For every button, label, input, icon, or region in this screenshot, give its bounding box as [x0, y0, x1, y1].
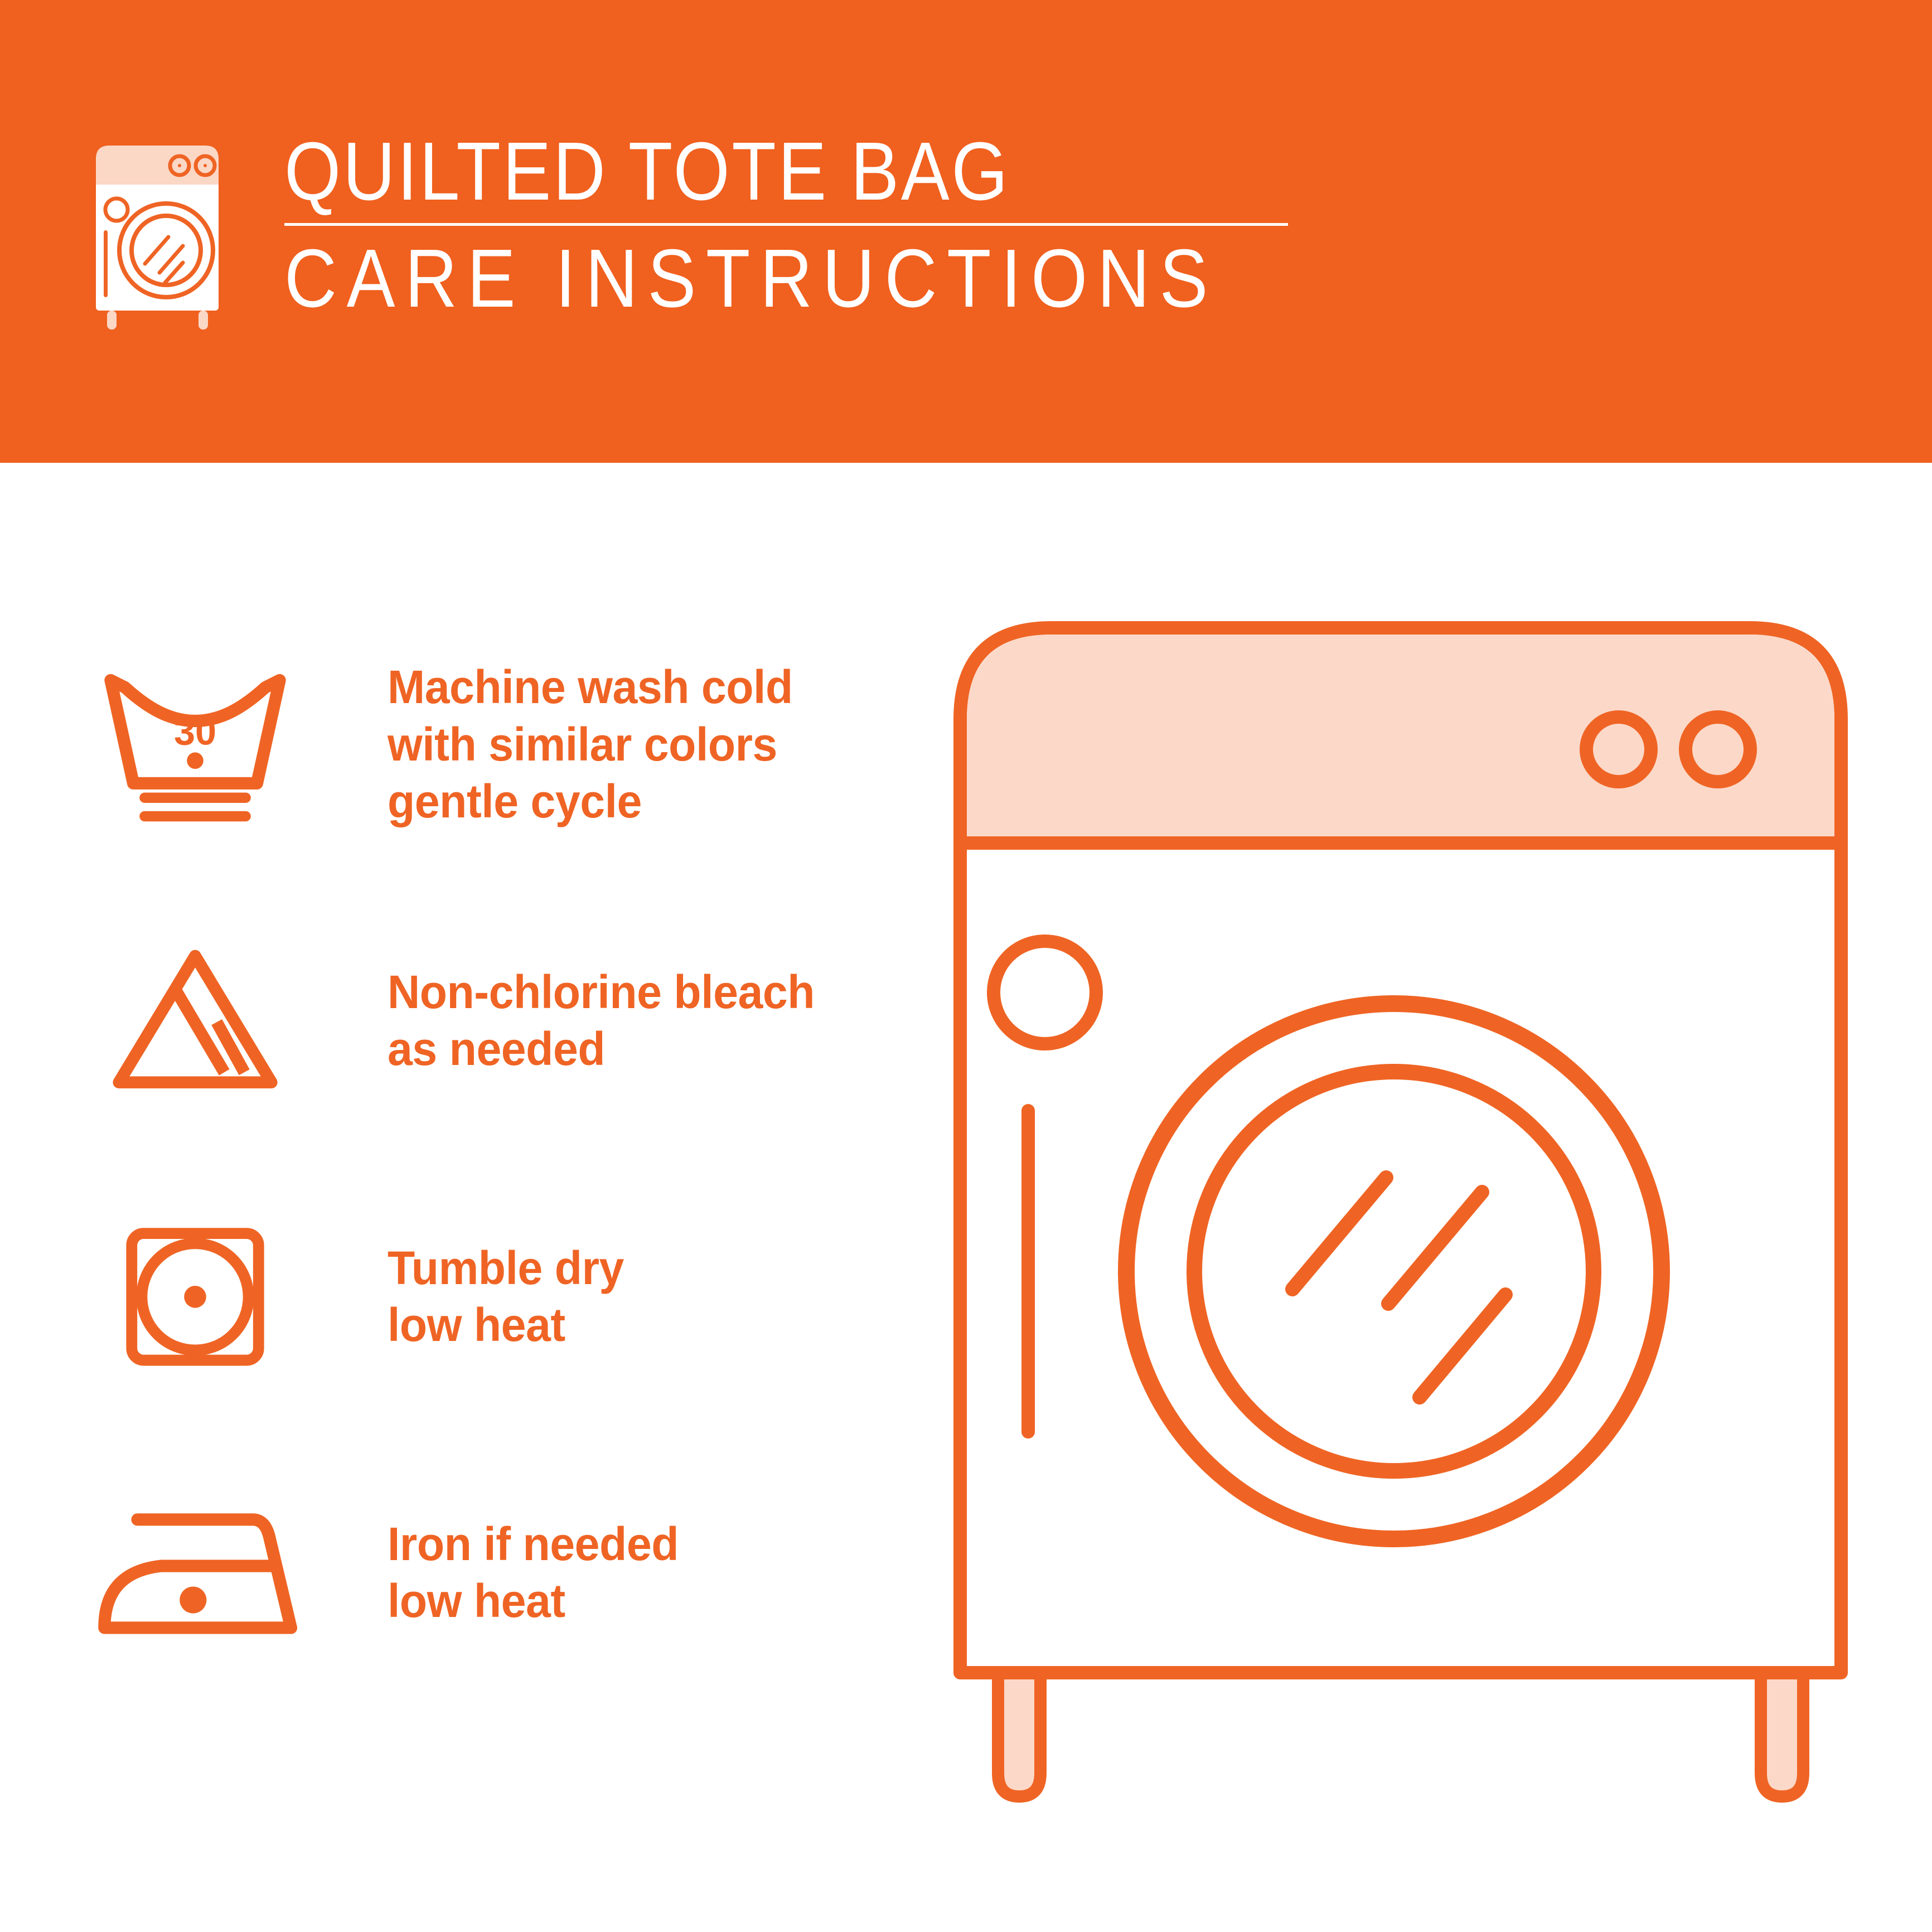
instruction-line: Iron if needed [388, 1515, 679, 1572]
title-divider [284, 223, 1288, 226]
instruction-line: low heat [388, 1572, 679, 1629]
instruction-line: as needed [388, 1020, 815, 1077]
control-panel [967, 635, 1834, 836]
panel-divider [960, 836, 1841, 850]
list-item-label: Tumble dry low heat [388, 1239, 624, 1354]
instruction-line: with similar colors [388, 716, 793, 773]
page-header: QUILTED TOTE BAG CARE INSTRUCTIONS [0, 0, 1932, 463]
list-item: Iron if needed low heat [84, 1480, 920, 1664]
door-handle [1021, 1104, 1035, 1439]
instruction-line: Non-chlorine bleach [388, 963, 815, 1020]
instruction-line: Tumble dry [388, 1239, 624, 1296]
instruction-line: gentle cycle [388, 773, 793, 830]
list-item: 30 Machine wash cold with similar colors… [84, 652, 920, 836]
instruction-line: low heat [388, 1296, 624, 1353]
list-item: Tumble dry low heat [84, 1204, 920, 1388]
page-subtitle: CARE INSTRUCTIONS [284, 238, 1236, 319]
instruction-line: Machine wash cold [388, 658, 793, 715]
list-item-label: Iron if needed low heat [388, 1515, 679, 1630]
main-content: 30 Machine wash cold with similar colors… [0, 463, 1932, 1932]
header-content: QUILTED TOTE BAG CARE INSTRUCTIONS [84, 131, 1366, 343]
machine-legs [998, 1662, 1803, 1797]
list-item-label: Non-chlorine bleach as needed [388, 963, 815, 1078]
front-load-washing-machine-illustration [948, 613, 1885, 1868]
header-text-block: QUILTED TOTE BAG CARE INSTRUCTIONS [284, 131, 1366, 319]
tumble-dry-low-icon [84, 1204, 307, 1388]
list-item-label: Machine wash cold with similar colors ge… [388, 658, 793, 830]
care-instructions-list: 30 Machine wash cold with similar colors… [84, 652, 920, 1664]
wash-tub-30-gentle-icon: 30 [84, 652, 307, 836]
wash-temperature-value: 30 [174, 710, 216, 753]
iron-low-heat-icon [84, 1480, 307, 1664]
list-item: Non-chlorine bleach as needed [84, 928, 920, 1112]
page-title: QUILTED TOTE BAG [284, 131, 1236, 212]
washing-machine-icon [84, 137, 251, 337]
non-chlorine-bleach-triangle-icon [84, 928, 307, 1112]
